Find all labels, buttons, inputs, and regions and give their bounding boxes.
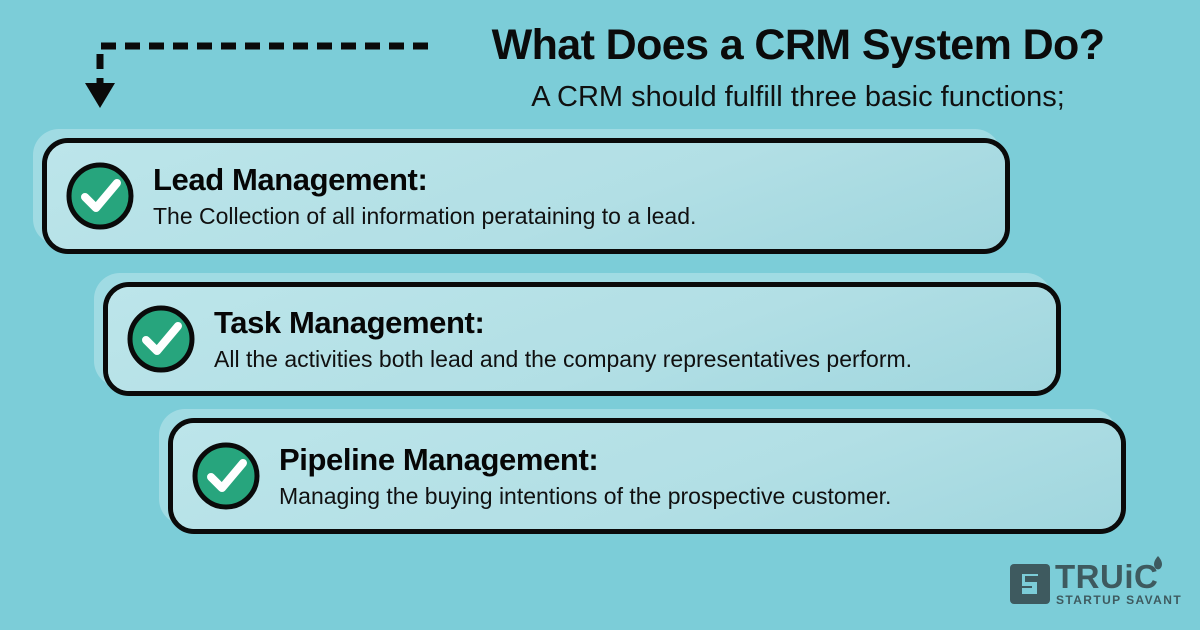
check-circle-icon [126, 304, 196, 374]
card-inner-panel: Lead Management: The Collection of all i… [47, 143, 1005, 249]
card-heading: Lead Management: [153, 161, 987, 199]
card-heading: Pipeline Management: [279, 441, 1103, 479]
truic-s-mark-icon [1010, 564, 1050, 604]
page-subtitle: A CRM should fulfill three basic functio… [418, 80, 1178, 114]
s-glyph-icon [1010, 564, 1050, 604]
check-circle-icon [65, 161, 135, 231]
card-inner-panel: Pipeline Management: Managing the buying… [173, 423, 1121, 529]
check-badge [126, 304, 196, 374]
check-circle-icon [191, 441, 261, 511]
card-description: The Collection of all information perata… [153, 201, 987, 231]
truic-wordmark: TRUiC [1055, 560, 1158, 593]
flame-icon [1151, 556, 1165, 571]
infographic-canvas: What Does a CRM System Do? A CRM should … [0, 0, 1200, 630]
card-text-block: Task Management: All the activities both… [214, 304, 1056, 374]
dashed-elbow-arrow-down-icon [80, 28, 430, 118]
card-lead-management[interactable]: Lead Management: The Collection of all i… [42, 138, 1010, 254]
card-description: Managing the buying intentions of the pr… [279, 481, 1103, 511]
card-content: Lead Management: The Collection of all i… [47, 143, 1005, 249]
card-task-management[interactable]: Task Management: All the activities both… [103, 282, 1061, 396]
card-description: All the activities both lead and the com… [214, 344, 1038, 374]
truic-wordmark-group: TRUiC STARTUP SAVANT [1055, 560, 1188, 608]
card-inner-panel: Task Management: All the activities both… [108, 287, 1056, 391]
check-badge [65, 161, 135, 231]
card-pipeline-management[interactable]: Pipeline Management: Managing the buying… [168, 418, 1126, 534]
card-heading: Task Management: [214, 304, 1038, 342]
truic-tagline: STARTUP SAVANT [1056, 594, 1182, 607]
check-badge [191, 441, 261, 511]
card-text-block: Pipeline Management: Managing the buying… [279, 441, 1121, 511]
card-content: Task Management: All the activities both… [108, 287, 1056, 391]
card-text-block: Lead Management: The Collection of all i… [153, 161, 1005, 231]
card-content: Pipeline Management: Managing the buying… [173, 423, 1121, 529]
page-title: What Does a CRM System Do? [418, 20, 1178, 70]
truic-logo[interactable]: TRUiC STARTUP SAVANT [1010, 558, 1188, 610]
